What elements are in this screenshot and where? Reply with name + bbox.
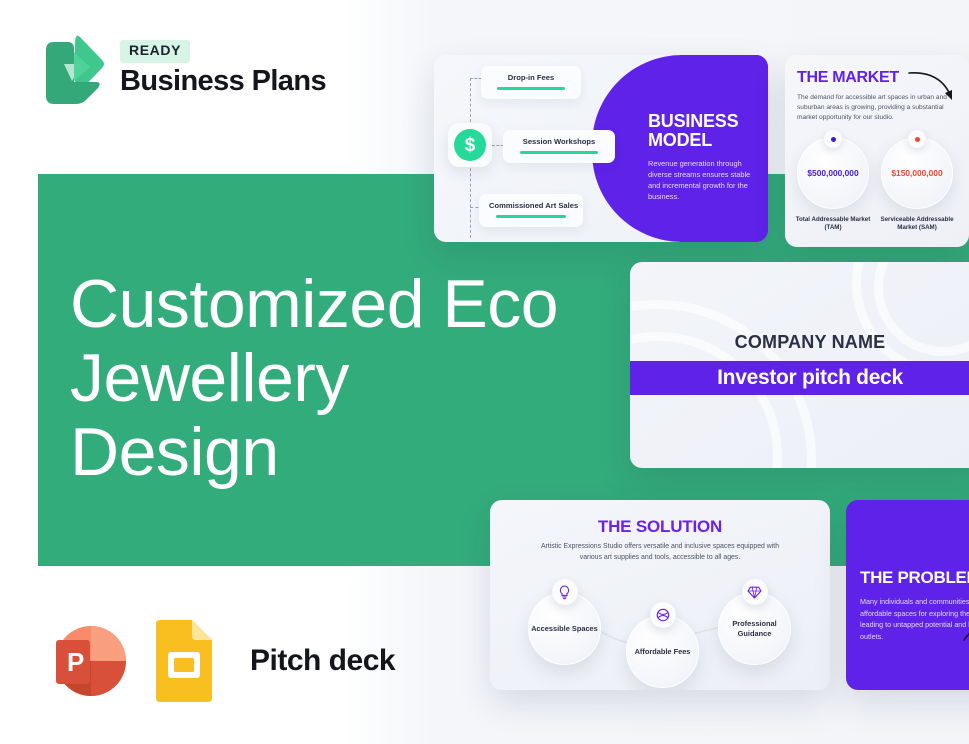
dollar-badge: $ bbox=[448, 123, 492, 167]
solution-node-2-bubble: Affordable Fees bbox=[626, 615, 699, 688]
market-metric-sam-caption: Serviceable Addressable Market (SAM) bbox=[878, 216, 956, 233]
market-metric-tam-dot bbox=[831, 137, 836, 142]
market-metric-sam-value: $150,000,000 bbox=[891, 168, 942, 178]
market-metric-sam: $150,000,000 Serviceable Addressable Mar… bbox=[881, 137, 956, 233]
brand-logo[interactable]: READY Business Plans bbox=[38, 34, 326, 104]
market-metric-tam: $500,000,000 Total Addressable Market (T… bbox=[797, 137, 872, 233]
format-label: Pitch deck bbox=[250, 644, 395, 678]
revenue-card-3[interactable]: Commissioned Art Sales bbox=[479, 194, 583, 227]
dollar-icon: $ bbox=[454, 129, 486, 161]
solution-node-3-label: Professional Guidance bbox=[718, 619, 791, 639]
market-metric-sam-circle: $150,000,000 bbox=[881, 137, 953, 209]
pitch-band-text: Investor pitch deck bbox=[717, 366, 903, 390]
business-model-description: Revenue generation through diverse strea… bbox=[648, 158, 760, 202]
solution-node-1[interactable]: Accessible Spaces bbox=[528, 592, 601, 665]
connector-bottom-vertical bbox=[470, 158, 471, 238]
problem-curve-icon bbox=[962, 610, 969, 646]
revenue-card-2[interactable]: Session Workshops bbox=[503, 130, 615, 163]
format-icons-row: P Pitch deck bbox=[44, 618, 395, 704]
solution-title: THE SOLUTION bbox=[490, 517, 830, 537]
solution-node-1-label: Accessible Spaces bbox=[531, 624, 598, 634]
svg-text:P: P bbox=[67, 647, 84, 677]
solution-node-2-label: Affordable Fees bbox=[635, 647, 691, 657]
lightbulb-icon bbox=[552, 579, 578, 605]
revenue-card-3-label: Commissioned Art Sales bbox=[489, 201, 573, 210]
brand-name: Business Plans bbox=[120, 66, 326, 98]
page-title: Customized Eco Jewellery Design bbox=[70, 267, 570, 489]
market-metric-sam-dot-pod bbox=[908, 130, 926, 148]
revenue-card-2-label: Session Workshops bbox=[513, 137, 605, 146]
revenue-card-1[interactable]: Drop-in Fees bbox=[481, 66, 581, 99]
slide-the-solution[interactable]: THE SOLUTION Artistic Expressions Studio… bbox=[490, 500, 830, 690]
google-slides-icon[interactable] bbox=[152, 620, 214, 702]
solution-node-3-bubble: Professional Guidance bbox=[718, 592, 791, 665]
market-title: THE MARKET bbox=[797, 69, 899, 87]
solution-description: Artistic Expressions Studio offers versa… bbox=[540, 542, 780, 564]
brand-text-column: READY Business Plans bbox=[120, 40, 326, 97]
market-metric-tam-circle: $500,000,000 bbox=[797, 137, 869, 209]
slide-the-problem[interactable]: THE PROBLEM Many individuals and communi… bbox=[846, 500, 969, 690]
play-logo-icon bbox=[38, 34, 104, 104]
ready-badge: READY bbox=[120, 40, 190, 62]
business-model-title: BUSINESS MODEL bbox=[648, 112, 768, 151]
slide-the-market[interactable]: THE MARKET The demand for accessible art… bbox=[785, 55, 969, 247]
pitch-company-name: COMPANY NAME bbox=[630, 332, 969, 353]
solution-node-1-bubble: Accessible Spaces bbox=[528, 592, 601, 665]
market-description: The demand for accessible art spaces in … bbox=[797, 93, 947, 124]
solution-node-2[interactable]: Affordable Fees bbox=[626, 615, 699, 688]
revenue-card-2-bar bbox=[520, 151, 597, 153]
solution-node-3[interactable]: Professional Guidance bbox=[718, 592, 791, 665]
problem-description: Many individuals and communities lack ac… bbox=[860, 596, 969, 643]
market-metric-tam-caption: Total Addressable Market (TAM) bbox=[794, 216, 872, 233]
market-metric-tam-dot-pod bbox=[824, 130, 842, 148]
revenue-card-1-bar bbox=[497, 87, 564, 89]
problem-title: THE PROBLEM bbox=[860, 568, 969, 588]
coin-icon bbox=[650, 602, 676, 628]
pitch-deck-cover-canvas: READY Business Plans Customized Eco Jewe… bbox=[0, 0, 969, 744]
slide-investor-pitch-deck[interactable]: COMPANY NAME Investor pitch deck bbox=[630, 262, 969, 468]
revenue-card-3-bar bbox=[496, 215, 567, 217]
market-metric-tam-value: $500,000,000 bbox=[807, 168, 858, 178]
revenue-card-1-label: Drop-in Fees bbox=[491, 73, 571, 82]
pitch-band: Investor pitch deck bbox=[630, 361, 969, 395]
diamond-icon bbox=[742, 579, 768, 605]
market-metric-sam-dot bbox=[915, 137, 920, 142]
powerpoint-icon[interactable]: P bbox=[44, 618, 130, 704]
